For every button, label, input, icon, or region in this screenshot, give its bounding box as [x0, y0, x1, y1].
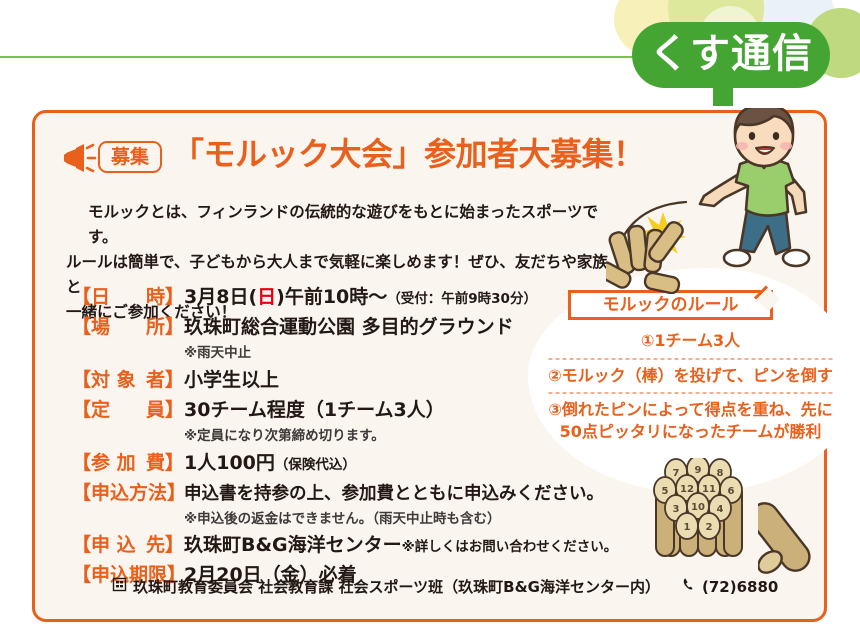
svg-text:11: 11	[702, 484, 716, 495]
page-title: 「モルック大会」参加者大募集！	[172, 135, 645, 173]
rule-item-2: ②モルック（棒）を投げて、ピンを倒す	[543, 365, 838, 387]
svg-text:4: 4	[717, 504, 724, 515]
rule-item-3-continued: 50点ピッタリになったチームが勝利	[543, 421, 838, 443]
rule-item-3: ③倒れたピンによって得点を重ね、先に	[543, 399, 838, 421]
recruit-badge-label: 募集	[111, 148, 149, 167]
intro-line-1: モルックとは、フィンランドの伝統的な遊びをもとに始まったスポーツです。	[66, 200, 611, 250]
detail-note-howto: ※申込後の返金はできません。（雨天中止時も含む）	[184, 510, 592, 529]
detail-label-howto: 【申込方法】	[72, 480, 184, 507]
rules-heading-label: モルックのルール	[603, 297, 739, 314]
svg-text:12: 12	[680, 484, 694, 495]
detail-row-place: 【場 所】 玖珠町総合運動公園 多目的グラウンド	[72, 314, 592, 341]
detail-value-howto: 申込書を持参の上、参加費とともに申込みください。	[184, 482, 604, 507]
rule-divider-2	[547, 392, 834, 394]
detail-label-applyto: 【申 込 先】	[72, 532, 184, 559]
footer-organization: 玖珠町教育委員会 社会教育課 社会スポーツ班（玖珠町B&G海洋センター内）	[133, 576, 660, 597]
svg-text:3: 3	[673, 504, 680, 515]
rules-heading-box: モルックのルール	[568, 290, 773, 320]
detail-value-capacity: 30チーム程度（1チーム3人）	[184, 397, 445, 424]
detail-value-applyto: 玖珠町B&G海洋センター※詳しくはお問い合わせください。	[184, 532, 617, 559]
numbered-pin-stack-illustration: 798 512116 3104 12	[650, 458, 760, 580]
recruit-badge: 募集	[98, 141, 162, 173]
detail-value-target: 小学生以上	[184, 367, 279, 394]
svg-text:10: 10	[691, 502, 705, 513]
detail-label-date: 【日 時】	[72, 284, 184, 311]
svg-text:1: 1	[684, 522, 691, 533]
detail-value-fee: 1人100円（保険代込）	[184, 450, 356, 477]
detail-note-place: ※雨天中止	[184, 344, 592, 363]
fallen-pins-illustration	[606, 218, 716, 294]
newsletter-badge: くす通信	[632, 22, 830, 88]
svg-text:2: 2	[706, 522, 713, 533]
detail-label-target: 【対 象 者】	[72, 367, 184, 394]
building-icon	[112, 577, 127, 596]
svg-text:8: 8	[717, 468, 724, 479]
detail-note-capacity: ※定員になり次第締め切ります。	[184, 427, 592, 446]
svg-text:6: 6	[728, 486, 735, 497]
svg-text:5: 5	[662, 486, 669, 497]
detail-label-fee: 【参 加 費】	[72, 450, 184, 477]
megaphone-icon	[62, 141, 98, 175]
footer-contact: 玖珠町教育委員会 社会教育課 社会スポーツ班（玖珠町B&G海洋センター内） (7…	[112, 576, 778, 597]
event-details-list: 【日 時】 3月8日(日)午前10時〜（受付：午前9時30分） 【場 所】 玖珠…	[72, 284, 592, 592]
detail-value-place: 玖珠町総合運動公園 多目的グラウンド	[184, 314, 514, 341]
detail-row-howto: 【申込方法】 申込書を持参の上、参加費とともに申込みください。	[72, 480, 592, 507]
rules-list: ①1チーム3人 ②モルック（棒）を投げて、ピンを倒す ③倒れたピンによって得点を…	[543, 330, 838, 442]
detail-row-target: 【対 象 者】 小学生以上	[72, 367, 592, 394]
detail-row-fee: 【参 加 費】 1人100円（保険代込）	[72, 450, 592, 477]
svg-text:7: 7	[673, 468, 680, 479]
detail-row-date: 【日 時】 3月8日(日)午前10時〜（受付：午前9時30分）	[72, 284, 592, 311]
rule-divider-1	[547, 358, 834, 360]
detail-row-applyto: 【申 込 先】 玖珠町B&G海洋センター※詳しくはお問い合わせください。	[72, 532, 592, 559]
detail-label-capacity: 【定 員】	[72, 397, 184, 424]
newsletter-badge-label: くす通信	[649, 34, 813, 77]
rule-item-1: ①1チーム3人	[543, 330, 838, 352]
phone-icon	[682, 577, 696, 596]
detail-label-place: 【場 所】	[72, 314, 184, 341]
svg-text:9: 9	[695, 465, 702, 476]
detail-value-date: 3月8日(日)午前10時〜（受付：午前9時30分）	[184, 284, 537, 311]
detail-row-capacity: 【定 員】 30チーム程度（1チーム3人）	[72, 397, 592, 424]
footer-phone: (72)6880	[702, 578, 778, 596]
molkky-throwing-stick-illustration	[758, 488, 832, 580]
header-divider-line	[0, 56, 694, 58]
